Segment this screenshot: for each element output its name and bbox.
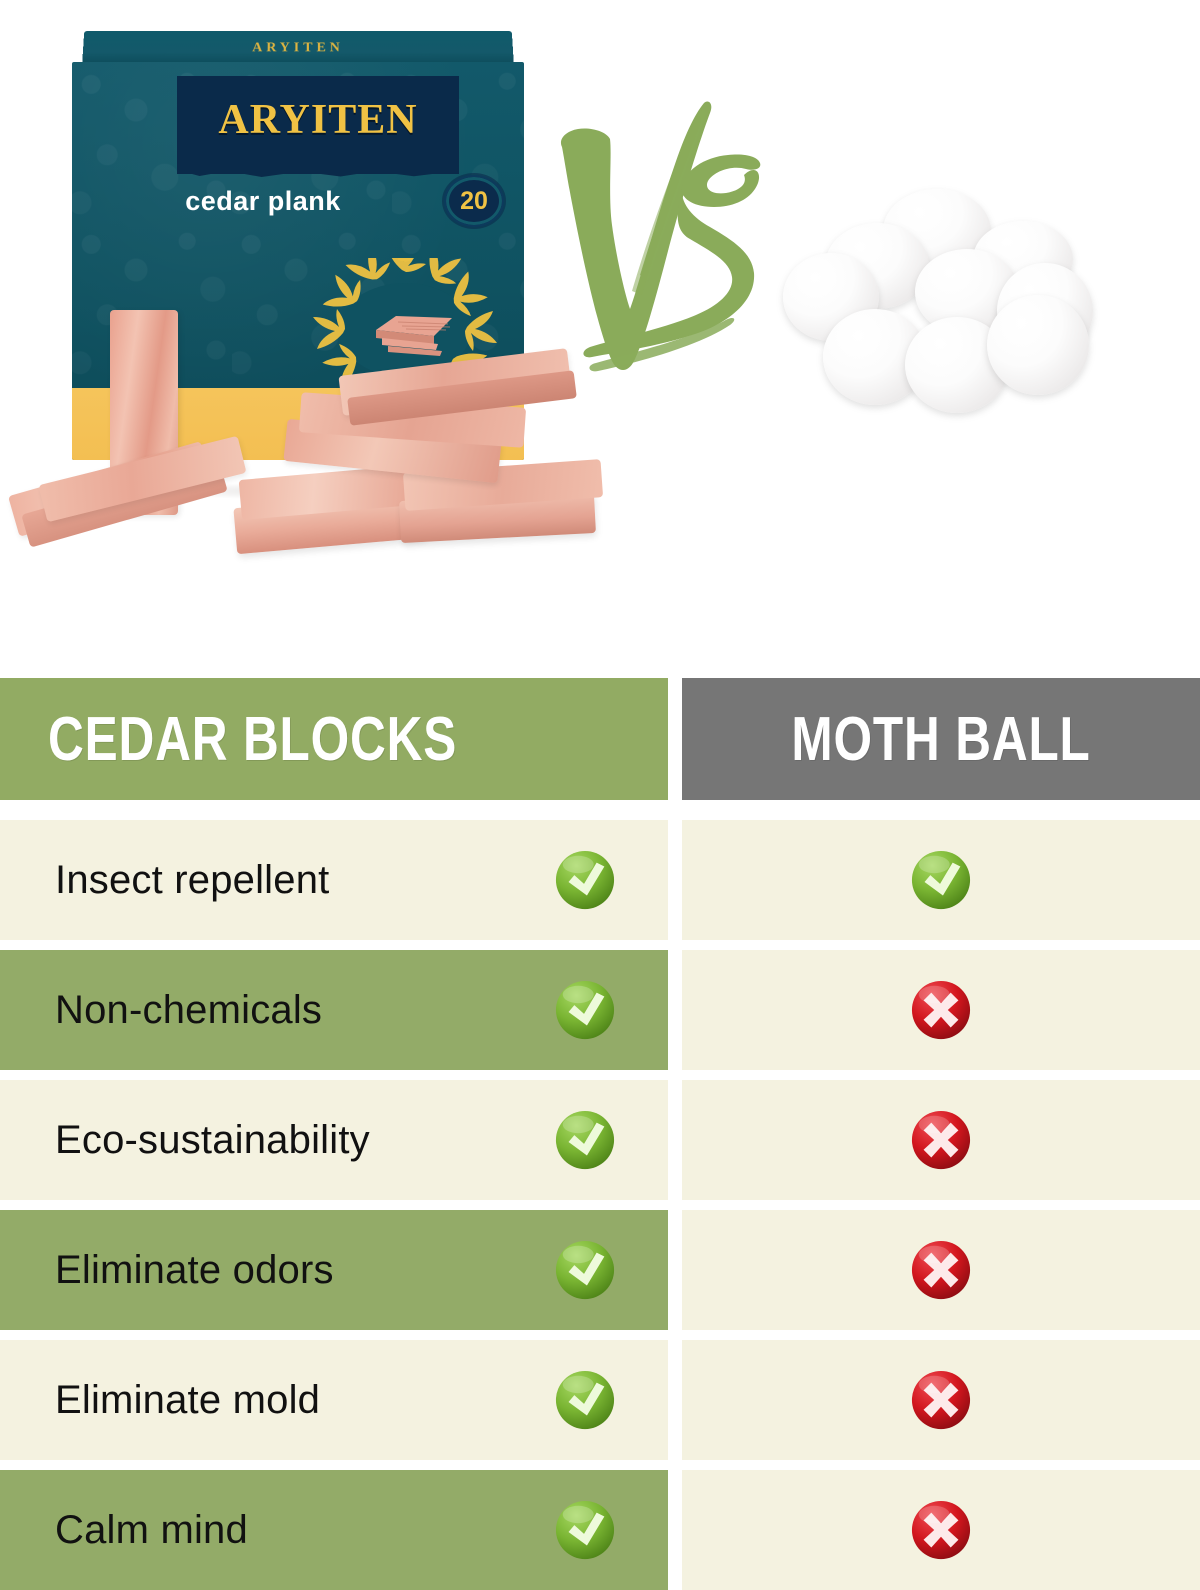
check-icon (554, 849, 616, 911)
table-row (682, 820, 1200, 940)
moth-ball (987, 295, 1089, 395)
table-row (682, 1340, 1200, 1460)
feature-label: Eliminate mold (55, 1378, 320, 1423)
feature-label: Insect repellent (55, 858, 329, 903)
vs-brush-icon (548, 95, 798, 425)
box-lid: ARYITEN (82, 31, 514, 66)
check-icon (554, 1109, 616, 1171)
cedar-planks-pile (0, 300, 640, 600)
hero-section: ARYITEN ARYITEN cedar plank 20 (0, 0, 1200, 672)
cross-icon (910, 1369, 972, 1431)
column-header-cedar-blocks-label: CEDAR BLOCKS (48, 704, 457, 775)
table-row: Eliminate odors (0, 1210, 668, 1330)
table-row (682, 1210, 1200, 1330)
table-row (682, 1080, 1200, 1200)
cross-icon (910, 979, 972, 1041)
table-row: Eliminate mold (0, 1340, 668, 1460)
count-badge: 20 (444, 175, 504, 227)
check-icon (554, 1239, 616, 1301)
brand-logo-text: ARYITEN (177, 96, 459, 144)
feature-label: Eco-sustainability (55, 1118, 370, 1163)
check-icon (554, 1369, 616, 1431)
feature-label: Eliminate odors (55, 1248, 334, 1293)
comparison-table: CEDAR BLOCKS MOTH BALL Insect repellent … (0, 672, 1200, 1500)
column-header-moth-ball-label: MOTH BALL (791, 704, 1090, 775)
feature-label: Calm mind (55, 1508, 248, 1553)
table-row: Insect repellent (0, 820, 668, 940)
cross-icon (910, 1239, 972, 1301)
table-row: Calm mind (0, 1470, 668, 1590)
box-lid-brand: ARYITEN (252, 41, 344, 57)
check-icon (554, 979, 616, 1041)
column-header-moth-ball: MOTH BALL (682, 678, 1200, 800)
column-header-cedar-blocks: CEDAR BLOCKS (0, 678, 668, 800)
check-icon (910, 849, 972, 911)
table-row (682, 950, 1200, 1070)
check-icon (554, 1499, 616, 1561)
feature-label: Non-chemicals (55, 988, 322, 1033)
cross-icon (910, 1499, 972, 1561)
table-row: Eco-sustainability (0, 1080, 668, 1200)
moth-balls-image (775, 185, 1175, 430)
table-row (682, 1470, 1200, 1590)
table-row: Non-chemicals (0, 950, 668, 1070)
cross-icon (910, 1109, 972, 1171)
